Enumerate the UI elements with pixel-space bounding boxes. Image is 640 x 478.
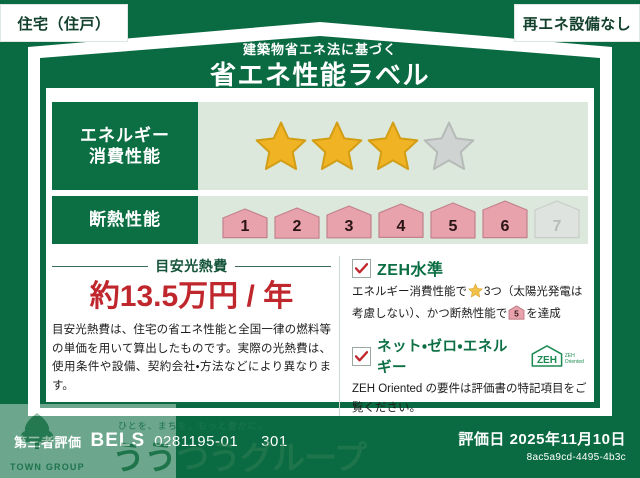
zeh-logo: ZEH ZEH Oriented — [530, 343, 592, 369]
row-energy-label-line2: 消費性能 — [80, 146, 170, 167]
cost-heading-text: 目安光熱費 — [155, 256, 228, 276]
star-filled-icon — [310, 119, 364, 173]
chip-renewable-status: 再エネ設備なし — [514, 4, 640, 42]
insulation-grade-number: 3 — [324, 218, 374, 236]
footer-right: 評価日 2025年11月10日 8ac5a9cd-4495-4b3c — [458, 428, 626, 463]
svg-text:5: 5 — [514, 308, 519, 318]
zeh-standard-body: エネルギー消費性能で3つ（太陽光発電は考慮しない）、かつ断熱性能で5を達成 — [352, 283, 592, 326]
label-footer: 第三者評価 BELS 0281195-01 301 評価日 2025年11月10… — [0, 416, 640, 478]
footer-date-value: 2025年11月10日 — [510, 431, 626, 448]
header-subtitle: 建築物省エネ法に基づく — [0, 42, 640, 58]
zeh-column: ZEH水準 エネルギー消費性能で3つ（太陽光発電は考慮しない）、かつ断熱性能で5… — [339, 256, 592, 427]
zeh-standard-title: ZEH水準 — [377, 256, 444, 280]
insulation-grade-2: 2 — [272, 207, 322, 240]
zeh-logo-sub: ZEH Oriented — [565, 354, 592, 369]
zeh-standard-body-3: を達成 — [526, 308, 561, 320]
chip-building-type: 住宅（住戸） — [0, 4, 128, 42]
insulation-grade-number: 7 — [532, 218, 582, 236]
insulation-grade-number: 2 — [272, 218, 322, 236]
row-insulation-label: 断熱性能 — [52, 196, 198, 244]
checkbox-checked-icon — [352, 259, 371, 278]
rule-left — [52, 266, 148, 267]
performance-rows: エネルギー 消費性能 断熱性能 1234567 — [52, 102, 588, 250]
insulation-grade-1: 1 — [220, 208, 270, 240]
insulation-grade-number: 4 — [376, 218, 426, 236]
label-header: 建築物省エネ法に基づく 省エネ性能ラベル — [0, 42, 640, 90]
cost-note: 目安光熱費は、住宅の省エネ性能と全国一律の燃料等の単価を用いて算出したものです。… — [52, 321, 331, 396]
rule-right — [235, 266, 331, 267]
insulation-grade-5: 5 — [428, 202, 478, 240]
insulation-grade-4: 4 — [376, 203, 426, 239]
insulation-grade-3: 3 — [324, 205, 374, 240]
checkbox-checked-icon — [352, 347, 371, 366]
zeh-standard-heading: ZEH水準 — [352, 256, 592, 280]
footer-left: 第三者評価 BELS 0281195-01 301 — [14, 430, 288, 452]
energy-performance-label: 住宅（住戸） 再エネ設備なし 建築物省エネ法に基づく 省エネ性能ラベル エネルギ… — [0, 0, 640, 478]
house-badge-icon-inline: 5 — [508, 305, 525, 327]
star-icon-inline — [468, 283, 483, 305]
star-rating — [254, 119, 476, 173]
row-insulation: 断熱性能 1234567 — [52, 196, 588, 244]
zeh-standard-block: ZEH水準 エネルギー消費性能で3つ（太陽光発電は考慮しない）、かつ断熱性能で5… — [352, 256, 592, 326]
row-energy-label: エネルギー 消費性能 — [52, 102, 198, 190]
cost-value: 約13.5万円 / 年 — [52, 280, 331, 313]
insulation-grade-6: 6 — [480, 200, 530, 240]
zeh-netzero-body: ZEH Oriented の要件は評価書の特記項目をご覧ください。 — [352, 380, 592, 417]
footer-registration-number: 0281195-01 — [154, 433, 238, 450]
cost-heading: 目安光熱費 — [52, 256, 331, 276]
row-energy-value — [198, 102, 588, 190]
header-title: 省エネ性能ラベル — [0, 61, 640, 91]
insulation-grade-scale: 1234567 — [220, 200, 582, 240]
footer-evaluation-date: 評価日 2025年11月10日 — [458, 428, 626, 449]
insulation-grade-7: 7 — [532, 200, 582, 240]
zeh-netzero-title: ネット・ゼロ・エネルギー — [377, 335, 521, 377]
star-empty-icon — [422, 119, 476, 173]
svg-text:ZEH: ZEH — [537, 355, 557, 366]
footer-uuid: 8ac5a9cd-4495-4b3c — [458, 452, 626, 463]
row-energy-label-line1: エネルギー — [80, 125, 170, 146]
zeh-netzero-block: ネット・ゼロ・エネルギー ZEH ZEH Oriented ZEH Orient… — [352, 335, 592, 417]
insulation-grade-number: 6 — [480, 218, 530, 236]
star-filled-icon — [254, 119, 308, 173]
footer-unit-number: 301 — [261, 433, 288, 450]
utility-cost-column: 目安光熱費 約13.5万円 / 年 目安光熱費は、住宅の省エネ性能と全国一律の燃… — [52, 256, 339, 427]
row-insulation-value: 1234567 — [198, 196, 588, 244]
insulation-grade-number: 5 — [428, 218, 478, 236]
star-filled-icon — [366, 119, 420, 173]
zeh-standard-body-1: エネルギー消費性能で — [352, 286, 467, 298]
footer-third-party: 第三者評価 — [14, 432, 82, 451]
detail-columns: 目安光熱費 約13.5万円 / 年 目安光熱費は、住宅の省エネ性能と全国一律の燃… — [52, 256, 592, 427]
insulation-grade-number: 1 — [220, 218, 270, 236]
zeh-netzero-heading: ネット・ゼロ・エネルギー ZEH ZEH Oriented — [352, 335, 592, 377]
footer-date-label: 評価日 — [458, 431, 505, 448]
footer-bels: BELS — [91, 430, 146, 452]
row-energy-consumption: エネルギー 消費性能 — [52, 102, 588, 190]
